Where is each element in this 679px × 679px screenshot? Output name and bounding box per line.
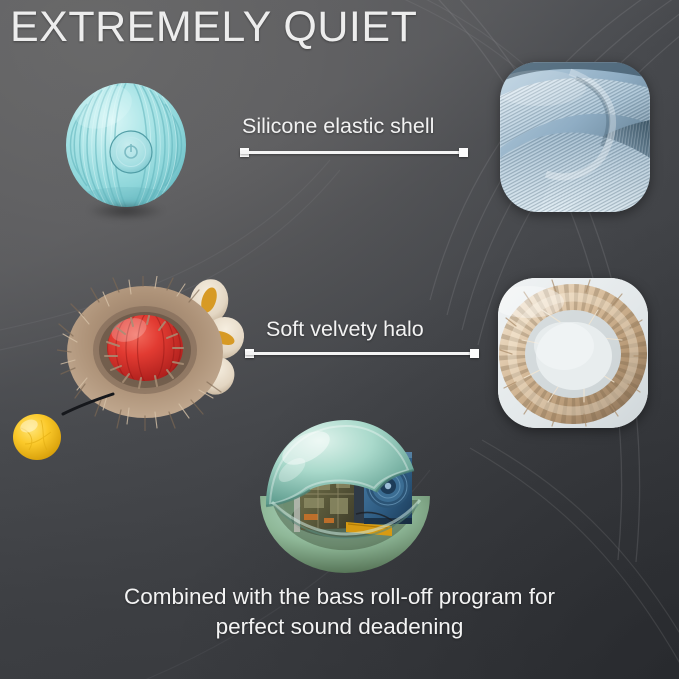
product-image-fur-halo-toy [57,276,257,431]
ball-drop-shadow [72,198,180,224]
connector-bar [240,151,468,154]
connector-cap-right [459,148,468,157]
connector-bar [245,352,479,355]
bottom-caption: Combined with the bass roll-off program … [0,582,679,642]
feature-2-connector [245,349,479,358]
product-image-silicone-ball [63,73,189,225]
connector-cap-right [470,349,479,358]
feature-1-label: Silicone elastic shell [242,114,434,139]
material-swatch-fur-ring [498,278,648,428]
feature-2-label: Soft velvety halo [266,317,424,342]
page-title: EXTREMELY QUIET [10,3,417,52]
material-swatch-fabric [500,62,650,212]
pompom-yellow [11,410,65,462]
bottom-caption-line-1: Combined with the bass roll-off program … [0,582,679,612]
power-button [110,131,152,173]
feature-1-connector [240,148,468,157]
infographic-canvas: EXTREMELY QUIET [0,0,679,679]
bottom-caption-line-2: perfect sound deadening [0,612,679,642]
product-image-cutaway-ball [258,418,432,576]
